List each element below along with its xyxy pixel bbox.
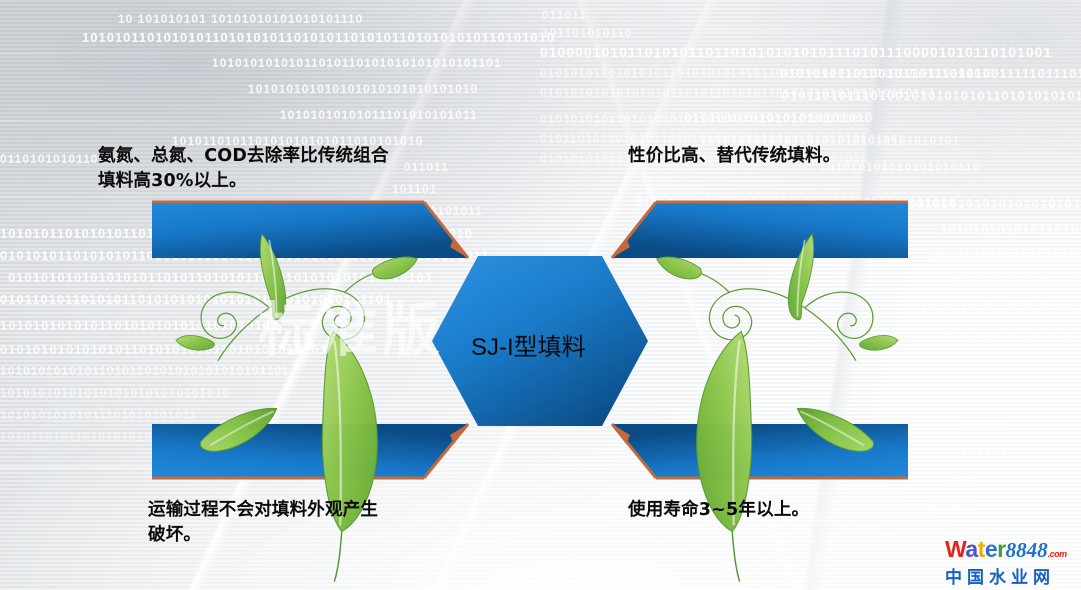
logo-chinese-name: 中国水业网 bbox=[945, 563, 1073, 588]
callout-top-left: 氨氮、总氮、COD去除率比传统组合 填料高30%以上。 bbox=[98, 144, 458, 195]
callout-bottom-left: 运输过程不会对填料外观产生 破坏。 bbox=[148, 498, 498, 549]
callout-bottom-right: 使用寿命3~5年以上。 bbox=[628, 498, 958, 523]
logo-letter-t: t bbox=[978, 536, 985, 562]
logo-letter-r: r bbox=[997, 536, 1005, 562]
logo-tld: .com bbox=[1048, 549, 1067, 559]
slide-canvas: 10 101010101 10101010101010101110 101010… bbox=[0, 0, 1081, 590]
arrow-bottom-left bbox=[152, 424, 468, 478]
logo-letter-e: e bbox=[985, 536, 997, 562]
center-hexagon[interactable] bbox=[432, 256, 648, 426]
site-logo[interactable]: Water8848.com 中国水业网 bbox=[945, 538, 1073, 584]
logo-letter-w: W bbox=[945, 536, 965, 562]
logo-letter-a: a bbox=[965, 536, 977, 562]
callout-top-right: 性价比高、替代传统填料。 bbox=[628, 144, 968, 169]
leaf-vine-right bbox=[657, 234, 898, 582]
arrow-top-left bbox=[152, 202, 468, 258]
logo-wordmark: Water8848.com bbox=[945, 538, 1073, 561]
arrow-top-right bbox=[612, 202, 908, 258]
logo-number: 8848 bbox=[1006, 538, 1048, 562]
